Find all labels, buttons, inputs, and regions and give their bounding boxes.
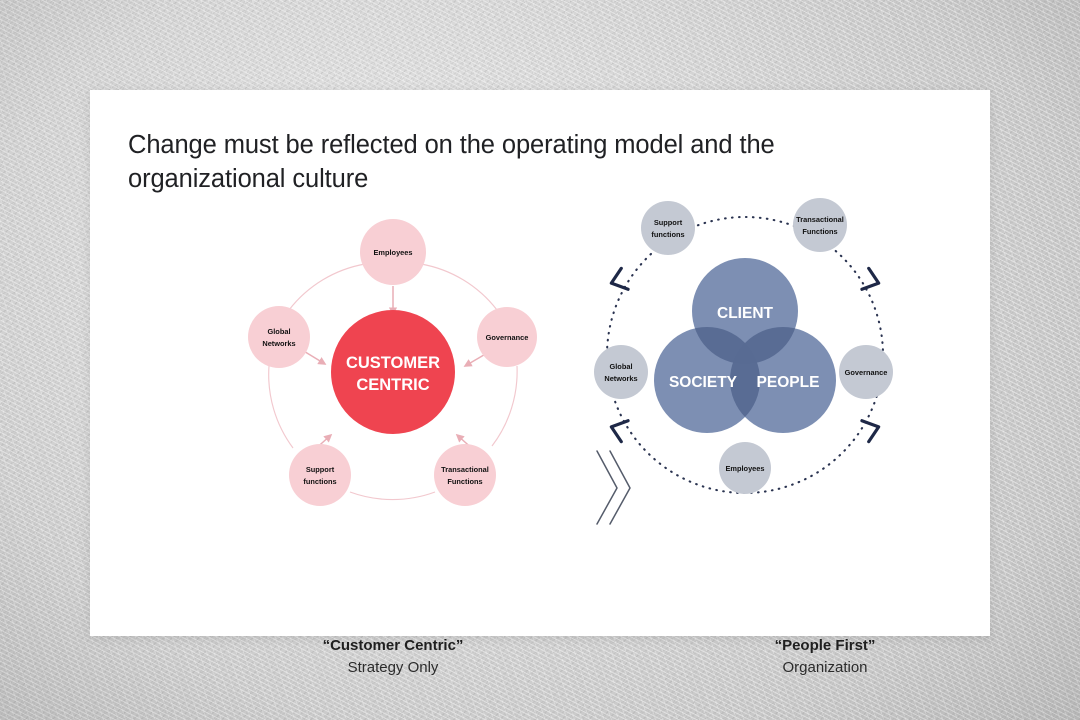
right-satellite-support-functions[interactable]: Support functions [641, 201, 695, 255]
left-satellite-employees[interactable]: Employees [360, 219, 426, 285]
right-satellite-transactional-functions-label-2: Functions [802, 227, 837, 236]
page-title-line-1: Change must be reflected on the operatin… [128, 128, 828, 162]
left-caption-title: “Customer Centric” [243, 635, 543, 657]
page-title-line-2: organizational culture [128, 162, 828, 196]
right-satellite-global-networks-label-2: Networks [604, 374, 637, 383]
left-satellite-transactional-functions-label-2: Functions [447, 477, 482, 486]
venn-label-society: SOCIETY [669, 374, 738, 391]
venn-label-client: CLIENT [717, 305, 774, 322]
left-caption-subtitle: Strategy Only [243, 657, 543, 679]
right-satellite-employees-label: Employees [725, 464, 764, 473]
double-chevron-right-icon [585, 445, 645, 530]
right-satellite-support-functions-label-2: functions [651, 230, 684, 239]
customer-centric-diagram: CUSTOMER CENTRIC Employees Governance Tr… [145, 220, 545, 550]
left-satellite-governance[interactable]: Governance [477, 307, 537, 367]
left-satellite-global-networks-label-2: Networks [262, 339, 295, 348]
right-satellite-employees[interactable]: Employees [719, 442, 771, 494]
right-satellite-governance[interactable]: Governance [839, 345, 893, 399]
left-caption: “Customer Centric” Strategy Only [243, 635, 543, 679]
right-satellite-transactional-functions-label-1: Transactional [796, 215, 844, 224]
left-satellite-transactional-functions[interactable]: Transactional Functions [434, 444, 496, 506]
slide-card: Change must be reflected on the operatin… [90, 90, 990, 636]
venn-group: CLIENT SOCIETY PEOPLE [654, 258, 836, 433]
venn-label-people: PEOPLE [757, 374, 820, 391]
right-caption: “People First” Organization [675, 635, 975, 679]
left-satellite-global-networks-label-1: Global [268, 327, 291, 336]
right-caption-title: “People First” [675, 635, 975, 657]
left-satellite-global-networks[interactable]: Global Networks [248, 306, 310, 368]
core-label-line-1: CUSTOMER [346, 354, 440, 372]
right-satellite-global-networks-label-1: Global [610, 362, 633, 371]
left-satellite-employees-label: Employees [373, 248, 412, 257]
core-label-line-2: CENTRIC [356, 376, 429, 394]
left-satellite-transactional-functions-label-1: Transactional [441, 465, 489, 474]
left-satellite-support-functions-label-2: functions [303, 477, 336, 486]
right-satellite-global-networks[interactable]: Global Networks [594, 345, 648, 399]
page-title: Change must be reflected on the operatin… [128, 128, 828, 196]
right-satellite-support-functions-label-1: Support [654, 218, 683, 227]
core-circle-customer-centric [331, 310, 455, 434]
right-satellite-governance-label: Governance [845, 368, 888, 377]
right-satellite-transactional-functions[interactable]: Transactional Functions [793, 198, 847, 252]
left-satellite-support-functions[interactable]: Support functions [289, 444, 351, 506]
left-satellite-governance-label: Governance [486, 333, 529, 342]
left-satellite-support-functions-label-1: Support [306, 465, 335, 474]
right-caption-subtitle: Organization [675, 657, 975, 679]
